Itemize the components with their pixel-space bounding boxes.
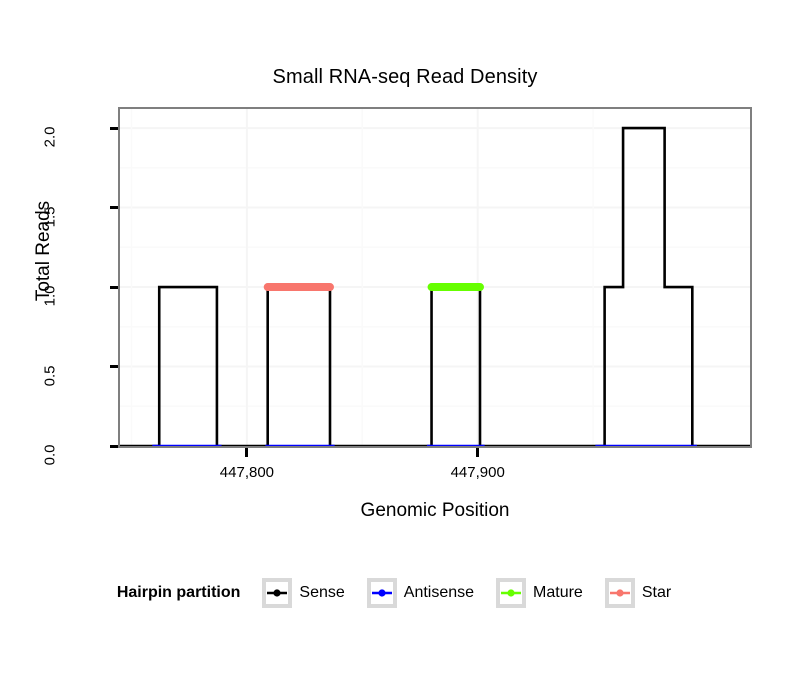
y-tick-mark <box>110 445 118 448</box>
y-tick-label-text: 0.5 <box>42 365 59 386</box>
legend-items: SenseAntisenseMatureStar <box>262 578 693 608</box>
legend-label: Mature <box>533 584 583 602</box>
y-tick-label-text: 1.5 <box>42 206 59 227</box>
legend-key-icon <box>496 578 526 608</box>
legend: Hairpin partition SenseAntisenseMatureSt… <box>0 578 810 608</box>
legend-title: Hairpin partition <box>117 584 241 602</box>
page-title: Small RNA-seq Read Density <box>0 66 810 89</box>
legend-label: Star <box>642 584 671 602</box>
y-axis-title: Total Reads <box>33 171 55 331</box>
x-tick-mark <box>476 448 479 457</box>
legend-label: Antisense <box>404 584 474 602</box>
y-tick-label-text: 1.0 <box>42 286 59 307</box>
legend-item-mature[interactable]: Mature <box>496 578 595 608</box>
legend-key-icon <box>605 578 635 608</box>
legend-line-point-icon <box>266 582 288 604</box>
x-tick-label: 447,900 <box>451 464 505 481</box>
y-tick-label-text: 0.0 <box>42 445 59 466</box>
x-axis-title: Genomic Position <box>118 500 752 522</box>
plot-area <box>120 109 750 446</box>
legend-key-icon <box>262 578 292 608</box>
legend-label: Sense <box>299 584 344 602</box>
y-tick-label-text: 2.0 <box>42 127 59 148</box>
plot-panel <box>118 107 752 448</box>
x-tick-mark <box>245 448 248 457</box>
y-tick-mark <box>110 286 118 289</box>
legend-item-star[interactable]: Star <box>605 578 683 608</box>
x-tick-label: 447,800 <box>220 464 274 481</box>
legend-item-antisense[interactable]: Antisense <box>367 578 486 608</box>
legend-item-sense[interactable]: Sense <box>262 578 356 608</box>
y-tick-mark <box>110 127 118 130</box>
y-tick-mark <box>110 206 118 209</box>
legend-line-point-icon <box>371 582 393 604</box>
chart-figure: Small RNA-seq Read Density Total Reads G… <box>0 0 810 690</box>
legend-key-icon <box>367 578 397 608</box>
y-tick-mark <box>110 365 118 368</box>
legend-line-point-icon <box>500 582 522 604</box>
legend-line-point-icon <box>609 582 631 604</box>
